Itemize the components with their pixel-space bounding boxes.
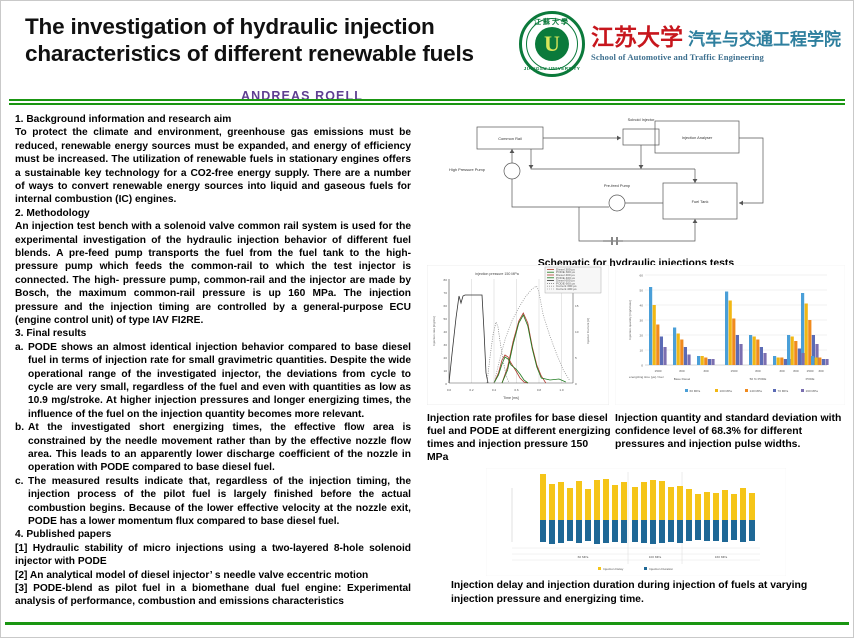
edge-return-line (579, 207, 695, 241)
edge-analyser-to-tank (739, 138, 763, 203)
svg-text:0: 0 (641, 364, 643, 368)
chart2-cat-4: 800 (755, 369, 760, 373)
svg-text:60: 60 (444, 304, 448, 308)
arrow-hpp-to-rail (510, 149, 515, 153)
injection-delay-svg: 60 MPa 100 MPa 160 MPa Injection Delay I… (486, 468, 786, 576)
seal-bottom-en-text: JIANGSU UNIVERSITY (522, 66, 582, 71)
svg-text:10: 10 (575, 330, 579, 334)
arrow-rail-return (529, 165, 534, 169)
chart3-group-1: 100 MPa (649, 555, 662, 559)
chart1-ylabel: Injection rate [mg/ms] (432, 316, 436, 346)
svg-text:40: 40 (444, 330, 448, 334)
injection-delay-chart: 60 MPa 100 MPa 160 MPa Injection Delay I… (427, 468, 845, 576)
chart1-title: injection pressure 150 MPa (475, 272, 519, 276)
result-text-a: PODE shows an almost identical injection… (28, 341, 411, 421)
svg-text:20: 20 (444, 356, 448, 360)
valve-symbol-right (616, 237, 618, 245)
result-marker-c: c. (15, 475, 28, 529)
chart2-group-2: PODE (806, 377, 815, 381)
label-high-pressure-pump: High Pressure Pump (449, 167, 485, 172)
logo-wordmark: 江苏大学 汽车与交通工程学院 School of Automotive and … (591, 26, 841, 61)
section-2-body: An injection test bench with a solenoid … (15, 220, 411, 327)
chart1-yticks: 807060 504030 20100 (444, 278, 448, 386)
chart1-legend: Diesel 300 µs PODE 300 µs Diesel 400 µs … (545, 267, 601, 293)
wordmark-university-cn: 江苏大学 (591, 26, 683, 50)
svg-text:0.4: 0.4 (492, 388, 497, 392)
svg-text:0: 0 (445, 382, 447, 386)
label-injection-analyser: Injection Analyser (682, 135, 713, 140)
result-text-b: At the investigated short energizing tim… (28, 421, 411, 475)
chart1-legend-7: Current 400 µs (556, 287, 577, 291)
svg-text:10: 10 (444, 369, 448, 373)
label-solenoid-injector: Solnoid Injector (628, 117, 656, 122)
chart2-legend-1: 100 MPa (720, 389, 733, 393)
wordmark-cn-row: 江苏大学 汽车与交通工程学院 (591, 26, 841, 50)
schematic-svg: Common Rail Solnoid Injector Injection A… (427, 111, 841, 261)
chart2-cat-8: 300 (818, 369, 823, 373)
caption-injection-delay: Injection delay and injection duration d… (427, 576, 845, 605)
svg-text:5: 5 (575, 356, 577, 360)
section-4-heading: 4. Published papers (15, 528, 411, 541)
svg-text:10: 10 (640, 349, 644, 353)
seal-top-cn-text: 江蘇大學 (522, 17, 582, 27)
reference-1: [1] Hydraulic stability of micro injecti… (15, 542, 411, 569)
chart3-legend-0: Injection Delay (603, 567, 624, 571)
chart2-xlabel: energizing time [µs] / fuel (629, 375, 664, 379)
chart2-cat-2: 300 (703, 369, 708, 373)
node-pre-feed-pump-circle (609, 195, 625, 211)
chart2-legend-4: 160 MPa (806, 389, 819, 393)
title-block: The investigation of hydraulic injection… (7, 9, 519, 68)
caption-injection-rate: Injection rate profiles for base diesel … (427, 412, 611, 464)
section-1-body: To protect the climate and environment, … (15, 126, 411, 206)
poster: The investigation of hydraulic injection… (0, 0, 854, 638)
arrow-to-tank-top (693, 179, 698, 183)
svg-text:0.6: 0.6 (514, 388, 519, 392)
arrow-injector-down (639, 165, 644, 169)
svg-text:1.0: 1.0 (559, 388, 564, 392)
svg-text:50: 50 (444, 317, 448, 321)
title-line-2: characteristics of different renewable f… (25, 40, 519, 67)
result-item-a: a. PODE shows an almost identical inject… (15, 341, 411, 421)
chart3-group-0: 60 MPa (578, 555, 589, 559)
injection-rate-svg: injection pressure 150 MPa (427, 265, 609, 405)
section-3-heading: 3. Final results (15, 327, 411, 340)
university-logo: 江蘇大學 1902 U JIANGSU UNIVERSITY 江苏大学 汽车与交… (519, 9, 847, 77)
injection-rate-chart: injection pressure 150 MPa (427, 265, 611, 410)
svg-text:0.8: 0.8 (537, 388, 542, 392)
chart2-cat-6: 1500 (807, 369, 814, 373)
edge-rail-return (531, 149, 695, 169)
result-text-c: The measured results indicate that, rega… (28, 475, 411, 529)
chart1-y2label: Injector Current [A] (586, 318, 590, 344)
arrow-analyser-to-tank (739, 201, 743, 206)
chart2-legend-0: 60 MPa (690, 389, 701, 393)
wordmark-school-cn: 汽车与交通工程学院 (688, 32, 841, 50)
chart2-cat-5: 300 (779, 369, 784, 373)
chart2-group-1: 50 % PODE (750, 377, 767, 381)
svg-text:60: 60 (640, 274, 644, 278)
label-common-rail: Common Rail (498, 136, 522, 141)
valve-symbol-left (611, 237, 613, 245)
chart2-cat-1: 800 (679, 369, 684, 373)
svg-text:50: 50 (640, 289, 644, 293)
charts-row: injection pressure 150 MPa (427, 265, 845, 410)
schematic-figure: Common Rail Solnoid Injector Injection A… (427, 111, 845, 263)
section-1-heading: 1. Background information and research a… (15, 113, 411, 126)
chart3-group-2: 160 MPa (715, 555, 728, 559)
title-line-1: The investigation of hydraulic injection (25, 14, 435, 39)
result-marker-a: a. (15, 341, 28, 421)
svg-text:80: 80 (444, 278, 448, 282)
injection-quantity-svg: 605040 302010 0 Injection quantity [mg/s… (615, 265, 845, 405)
figure-captions-row: Injection rate profiles for base diesel … (427, 412, 845, 464)
reference-3: [3] PODE-blend as pilot fuel in a biomet… (15, 582, 411, 609)
caption-injection-quantity: Injection quantity and standard deviatio… (611, 412, 845, 464)
chart2-cat-0: 1500 (655, 369, 662, 373)
seal-year-text: 1902 (522, 28, 582, 33)
result-item-b: b. At the investigated short energizing … (15, 421, 411, 475)
node-high-pressure-pump-circle (504, 163, 520, 179)
arrow-rail-to-injector (617, 136, 621, 141)
svg-text:15: 15 (575, 304, 579, 308)
left-text-column: 1. Background information and research a… (1, 105, 421, 615)
svg-text:70: 70 (444, 291, 448, 295)
label-pre-feed-pump: Pre-feed Pump (604, 183, 630, 188)
page-title: The investigation of hydraulic injection… (25, 13, 519, 68)
svg-text:20: 20 (640, 334, 644, 338)
svg-text:30: 30 (444, 343, 448, 347)
svg-text:30: 30 (640, 319, 644, 323)
chart2-ylabel: Injection quantity [mg/stroke] (628, 300, 632, 340)
chart2-group-0: Base Diesel (674, 377, 691, 381)
label-fuel-tank: Fuel Tank (692, 199, 709, 204)
poster-header: The investigation of hydraulic injection… (1, 1, 853, 87)
footer-divider (5, 622, 849, 625)
section-2-heading: 2. Methodology (15, 207, 411, 220)
chart2-cat-7: 800 (793, 369, 798, 373)
chart3-legend-1: Injection Duration (649, 567, 673, 571)
chart2-cat-3: 1500 (731, 369, 738, 373)
poster-body: 1. Background information and research a… (1, 105, 853, 615)
svg-text:0.2: 0.2 (469, 388, 474, 392)
right-figure-column: Common Rail Solnoid Injector Injection A… (421, 105, 853, 615)
edge-hpp-supply (512, 179, 609, 207)
chart1-xlabel: Time [ms] (503, 396, 519, 400)
svg-text:0: 0 (575, 382, 577, 386)
arrow-return-to-tank (693, 219, 698, 223)
result-item-c: c. The measured results indicate that, r… (15, 475, 411, 529)
reference-2: [2] An analytical model of diesel inject… (15, 569, 411, 582)
svg-text:0.0: 0.0 (447, 388, 452, 392)
node-solenoid-injector-box (623, 129, 659, 145)
svg-text:40: 40 (640, 304, 644, 308)
wordmark-school-en: School of Automotive and Traffic Enginee… (591, 52, 841, 62)
jiangsu-university-seal-icon: 江蘇大學 1902 U JIANGSU UNIVERSITY (519, 11, 585, 77)
injection-quantity-chart: 605040 302010 0 Injection quantity [mg/s… (611, 265, 845, 410)
result-marker-b: b. (15, 421, 28, 475)
chart2-legend-3: 70 MPa (778, 389, 789, 393)
chart2-legend-2: 140 MPa (750, 389, 763, 393)
